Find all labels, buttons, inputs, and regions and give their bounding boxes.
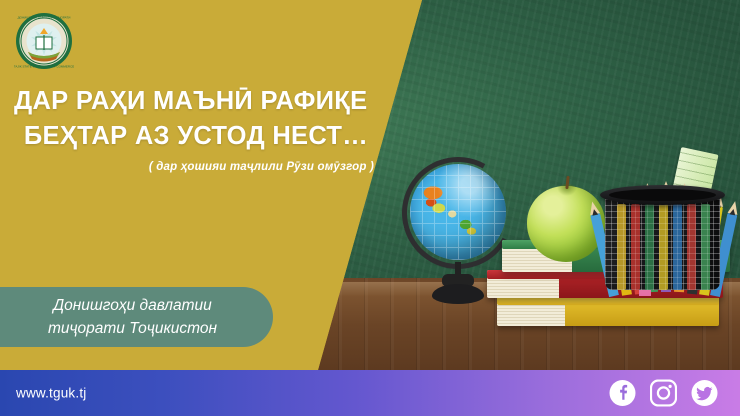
headline: ДАР РАҲИ МАЪНӢ РАФИҚЕ БЕҲТАР АЗ УСТОД НЕ…	[10, 84, 382, 154]
facebook-icon[interactable]	[609, 380, 636, 407]
footer-bar: www.tguk.tj	[0, 370, 740, 416]
book-yellow	[497, 296, 719, 326]
organization-pill: Донишгоҳи давлатии тиҷорати Тоҷикистон	[0, 287, 273, 347]
headline-line-1: ДАР РАҲИ МАЪНӢ РАФИҚЕ	[10, 84, 382, 119]
twitter-icon[interactable]	[691, 380, 718, 407]
svg-text:TAJIK STATE UNIVERSITY OF COMM: TAJIK STATE UNIVERSITY OF COMMERCE	[14, 65, 74, 69]
promo-banner: ДОНИШГОҲИ ДАВЛАТИИ ТИҶОРАТИ TAJIK STATE …	[0, 0, 740, 416]
university-logo: ДОНИШГОҲИ ДАВЛАТИИ ТИҶОРАТИ TAJIK STATE …	[14, 12, 74, 70]
organization-name: Донишгоҳи давлатии тиҷорати Тоҷикистон	[24, 294, 227, 340]
pencil-cup	[600, 180, 725, 290]
pencil-cup-mesh-overlay	[605, 194, 720, 290]
headline-subtitle: ( дар ҳошияи таҷлили Рӯзи омӯзгор )	[10, 161, 382, 173]
svg-text:ДОНИШГОҲИ ДАВЛАТИИ ТИҶОРАТИ: ДОНИШГОҲИ ДАВЛАТИИ ТИҶОРАТИ	[18, 16, 71, 20]
website-url[interactable]: www.tguk.tj	[16, 386, 86, 401]
globe-base	[432, 284, 484, 304]
social-links	[609, 380, 718, 407]
instagram-icon[interactable]	[650, 380, 677, 407]
pencil-cup-interior	[609, 189, 716, 201]
pencil-cup-body	[605, 194, 720, 290]
headline-line-2: БЕҲТАР АЗ УСТОД НЕСТ…	[10, 119, 382, 154]
